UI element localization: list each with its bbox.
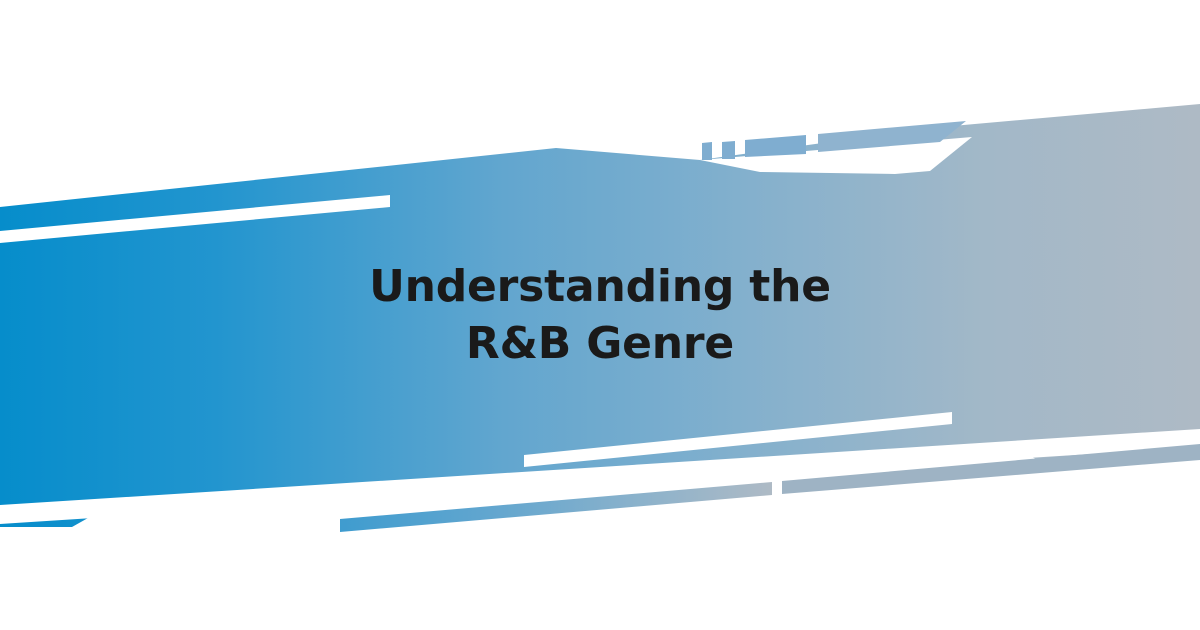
banner-background-graphic xyxy=(0,0,1200,630)
banner-card: Understanding the R&B Genre xyxy=(0,0,1200,630)
